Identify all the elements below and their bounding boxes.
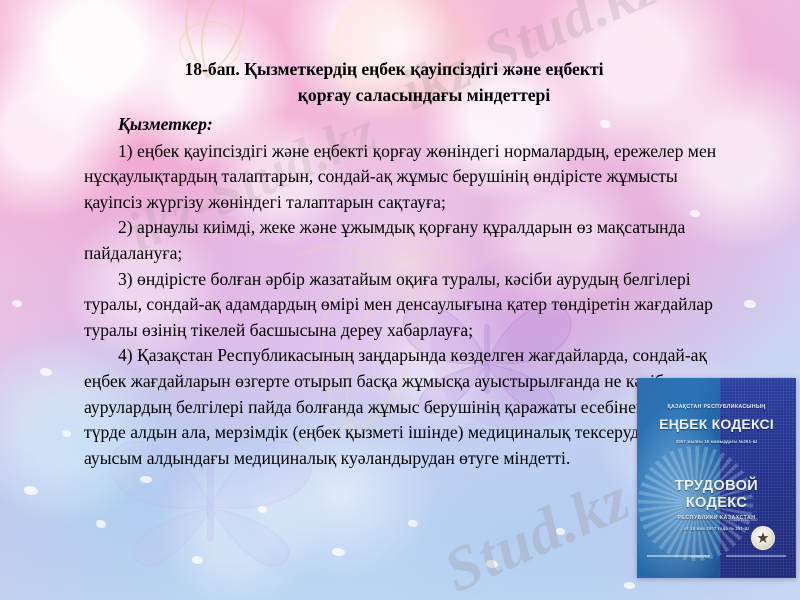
book-ru-subtitle: РЕСПУБЛИКИ КАЗАХСТАН [637,515,796,521]
petal-flake [408,520,418,527]
slide-paragraph-4: 4) Қазақстан Республикасының заңдарында … [84,343,720,471]
book-ru-title-line2: КОДЕКС [637,495,796,511]
book-kz-subtitle: ҚАЗАҚСТАН РЕСПУБЛИКАСЫНЫҢ [637,404,796,410]
petal-flake [40,368,52,376]
book-divider-right [726,555,786,557]
slide-paragraph-2: 2) арнаулы киімді, жеке және ұжымдық қор… [84,215,720,266]
labor-code-book-image: ҚАЗАҚСТАН РЕСПУБЛИКАСЫНЫҢ ЕҢБЕК КОДЕКСІ … [637,378,796,578]
petal-flake [24,486,38,495]
petal-flake [12,300,22,307]
slide-paragraph-3: 3) өндірісте болған әрбір жазатайым оқиғ… [84,267,720,344]
book-kz-title: ЕҢБЕК КОДЕКСІ [637,416,796,432]
book-ru-title-line1: ТРУДОВОЙ [637,478,796,494]
watermark-bottom: Stud.kz [434,463,641,600]
petal-flake [140,476,152,483]
book-city-label: АЛМАТЫ [691,554,709,559]
slide-subheading: Қызметкер: [84,112,720,138]
petal-flake [744,300,756,308]
petal-flake [62,430,71,437]
petal-flake [332,548,345,556]
petal-flake [192,556,203,564]
slide-paragraph-1: 1) еңбек қауіпсіздігі және еңбекті қорға… [84,139,720,216]
petal-flake [96,520,106,528]
slide-text-body: 18-бап. Қызметкердің еңбек қауіпсіздігі … [84,56,720,471]
slide-title-line2: қорғау саласындағы міндеттері [84,82,720,109]
presentation-slide: ikz-Stud.kz ikz-Stud.kz Stud.kz 18-бап. … [0,0,800,600]
slide-title-line1: 18-бап. Қызметкердің еңбек қауіпсіздігі … [84,56,720,83]
petal-flake [624,582,635,589]
petal-flake [556,528,565,535]
petal-flake [486,560,498,568]
book-publisher-label: ИЗДАТЕЛЬСТВО [729,518,757,522]
petal-flake [258,506,267,513]
book-kz-reference: 2007 жылғы 15 мамырдағы №251-Ш [637,439,796,444]
